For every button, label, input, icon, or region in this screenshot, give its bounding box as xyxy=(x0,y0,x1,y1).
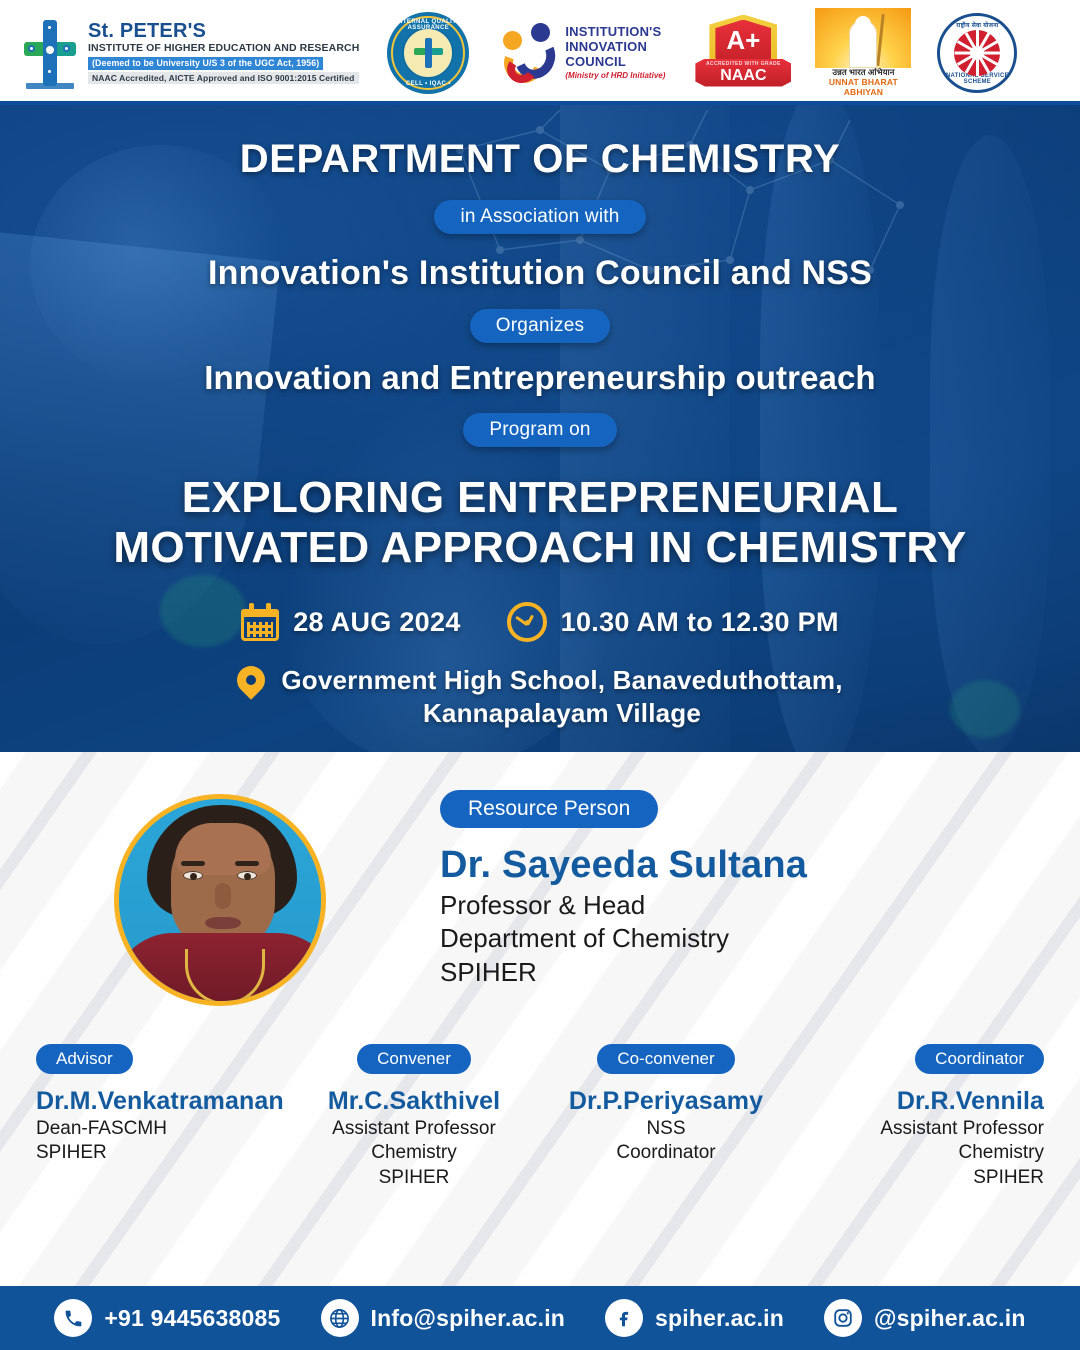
venue-line2: Kannapalayam Village xyxy=(281,697,842,730)
in-association-with-pill: in Association with xyxy=(434,200,645,234)
resource-person-role-line1: Professor & Head xyxy=(440,889,1040,922)
phone-icon xyxy=(54,1299,92,1337)
organizer-convener: Convener Mr.C.Sakthivel Assistant Profes… xyxy=(288,1044,540,1190)
website-email: Info@spiher.ac.in xyxy=(371,1305,566,1332)
header-logo-bar: St. PETER'S INSTITUTE OF HIGHER EDUCATIO… xyxy=(0,0,1080,105)
globe-icon xyxy=(321,1299,359,1337)
organizer-name: Dr.M.Venkatramanan xyxy=(36,1087,288,1116)
nss-logo-slot: राष्ट्रीय सेवा योजना NATIONAL SERVICE SC… xyxy=(937,13,1017,93)
event-poster: St. PETER'S INSTITUTE OF HIGHER EDUCATIO… xyxy=(0,0,1080,1350)
contact-facebook[interactable]: spiher.ac.in xyxy=(605,1299,784,1337)
organizer-role-pill: Coordinator xyxy=(915,1044,1044,1074)
instagram-icon xyxy=(824,1299,862,1337)
spiher-institute-logo: St. PETER'S INSTITUTE OF HIGHER EDUCATIO… xyxy=(22,18,359,88)
organizer-name: Mr.C.Sakthivel xyxy=(288,1087,540,1116)
resource-person-role-line3: SPIHER xyxy=(440,956,1040,989)
phone-number: +91 9445638085 xyxy=(104,1305,280,1332)
naac-ribbon-bottom: NAAC xyxy=(720,68,766,84)
uba-hindi-text: उन्नत भारत अभियान xyxy=(815,68,911,77)
instagram-handle: @spiher.ac.in xyxy=(874,1305,1026,1332)
iic-line2: INNOVATION xyxy=(565,39,665,54)
organizer-sub-line2: Coordinator xyxy=(540,1141,792,1165)
contact-instagram[interactable]: @spiher.ac.in xyxy=(824,1299,1026,1337)
iic-logo: INSTITUTION'S INNOVATION COUNCIL (Minist… xyxy=(501,21,665,85)
calendar-icon xyxy=(241,603,279,641)
cross-emblem-icon xyxy=(22,18,78,88)
resource-person-role-line2: Department of Chemistry xyxy=(440,922,1040,955)
iqac-logo: INTERNAL QUALITY ASSURANCE CELL • IQAC • xyxy=(387,12,469,94)
contact-website[interactable]: Info@spiher.ac.in xyxy=(321,1299,566,1337)
uba-logo-slot: उन्नत भारत अभियान UNNAT BHARAT ABHIYAN xyxy=(815,8,911,97)
portrait-photo xyxy=(119,799,321,1001)
organizer-sub-line3: SPIHER xyxy=(288,1166,540,1190)
iqac-bottom-text: CELL • IQAC • xyxy=(387,81,469,87)
naac-logo: A+ ACCREDITED WITH GRADE NAAC xyxy=(689,11,797,95)
iqac-cross-icon xyxy=(413,37,443,69)
gandhi-figure-icon xyxy=(815,8,911,68)
nss-wheel-icon xyxy=(954,30,1000,76)
institute-deemed-badge: (Deemed to be University U/S 3 of the UG… xyxy=(88,57,323,69)
event-venue-row: Government High School, Banaveduthottam,… xyxy=(0,664,1080,729)
organizes-pill: Organizes xyxy=(470,309,610,343)
resource-person-block: Resource Person Dr. Sayeeda Sultana Prof… xyxy=(0,752,1080,1006)
department-title: DEPARTMENT OF CHEMISTRY xyxy=(0,137,1080,182)
resource-person-pill: Resource Person xyxy=(440,790,658,828)
iic-logo-slot: INSTITUTION'S INNOVATION COUNCIL (Minist… xyxy=(501,21,665,85)
resource-person-name: Dr. Sayeeda Sultana xyxy=(440,844,1040,887)
program-on-pill: Program on xyxy=(463,413,616,447)
iic-line1: INSTITUTION'S xyxy=(565,24,665,39)
location-pin-icon xyxy=(237,666,265,706)
iqac-logo-slot: INTERNAL QUALITY ASSURANCE CELL • IQAC • xyxy=(387,12,469,94)
uba-english-text: UNNAT BHARAT ABHIYAN xyxy=(815,77,911,97)
organizers-row: Advisor Dr.M.Venkatramanan Dean-FASCMH S… xyxy=(0,1044,1080,1190)
venue-line1: Government High School, Banaveduthottam, xyxy=(281,664,842,697)
partner-organizations: Innovation's Institution Council and NSS xyxy=(0,254,1080,293)
unnat-bharat-abhiyan-logo: उन्नत भारत अभियान UNNAT BHARAT ABHIYAN xyxy=(815,8,911,97)
organizer-role-pill: Convener xyxy=(357,1044,471,1074)
event-date: 28 AUG 2024 xyxy=(293,607,460,638)
institute-subtitle: INSTITUTE OF HIGHER EDUCATION AND RESEAR… xyxy=(88,43,359,54)
event-title-line1: EXPLORING ENTREPRENEURIAL xyxy=(0,473,1080,523)
organizer-sub-line2: Chemistry xyxy=(792,1141,1044,1165)
program-line: Innovation and Entrepreneurship outreach xyxy=(0,359,1080,397)
event-time: 10.30 AM to 12.30 PM xyxy=(561,607,839,638)
iqac-top-text: INTERNAL QUALITY ASSURANCE xyxy=(387,19,469,31)
iic-figure-icon xyxy=(501,21,557,85)
nss-top-text: राष्ट्रीय सेवा योजना xyxy=(940,21,1014,29)
organizer-sub-line3: SPIHER xyxy=(792,1166,1044,1190)
iic-ministry: (Ministry of HRD Initiative) xyxy=(565,71,665,80)
event-date-item: 28 AUG 2024 xyxy=(241,603,460,641)
institute-accreditation: NAAC Accredited, AICTE Approved and ISO … xyxy=(88,72,359,84)
event-title-line2: MOTIVATED APPROACH IN CHEMISTRY xyxy=(0,523,1080,573)
organizer-role-pill: Advisor xyxy=(36,1044,133,1074)
contact-phone[interactable]: +91 9445638085 xyxy=(54,1299,280,1337)
facebook-handle: spiher.ac.in xyxy=(655,1305,784,1332)
organizer-role-pill: Co-convener xyxy=(597,1044,734,1074)
organizer-sub-line1: NSS xyxy=(540,1117,792,1141)
organizer-sub-line1: Assistant Professor xyxy=(792,1117,1044,1141)
organizer-sub-line2: SPIHER xyxy=(36,1141,288,1165)
organizer-sub-line1: Assistant Professor xyxy=(288,1117,540,1141)
organizer-advisor: Advisor Dr.M.Venkatramanan Dean-FASCMH S… xyxy=(8,1044,288,1190)
event-time-item: 10.30 AM to 12.30 PM xyxy=(507,602,839,642)
facebook-icon xyxy=(605,1299,643,1337)
details-section: Resource Person Dr. Sayeeda Sultana Prof… xyxy=(0,752,1080,1286)
institute-name: St. PETER'S xyxy=(88,21,359,42)
clock-icon xyxy=(507,602,547,642)
naac-grade: A+ xyxy=(715,27,771,53)
iic-line3: COUNCIL xyxy=(565,54,665,69)
organizer-name: Dr.R.Vennila xyxy=(792,1087,1044,1116)
organizer-co-convener: Co-convener Dr.P.Periyasamy NSS Coordina… xyxy=(540,1044,792,1190)
resource-person-photo-wrap xyxy=(0,790,440,1006)
nss-logo: राष्ट्रीय सेवा योजना NATIONAL SERVICE SC… xyxy=(937,13,1017,93)
naac-logo-slot: A+ ACCREDITED WITH GRADE NAAC xyxy=(689,11,797,95)
organizer-sub-line2: Chemistry xyxy=(288,1141,540,1165)
organizer-coordinator: Coordinator Dr.R.Vennila Assistant Profe… xyxy=(792,1044,1072,1190)
organizer-sub-line1: Dean-FASCMH xyxy=(36,1117,288,1141)
organizer-name: Dr.P.Periyasamy xyxy=(540,1087,792,1116)
hero-section: DEPARTMENT OF CHEMISTRY in Association w… xyxy=(0,105,1080,752)
avatar xyxy=(114,794,326,1006)
contact-footer: +91 9445638085 Info@spiher.ac.in spi xyxy=(0,1286,1080,1350)
event-meta-row: 28 AUG 2024 10.30 AM to 12.30 PM xyxy=(0,602,1080,642)
